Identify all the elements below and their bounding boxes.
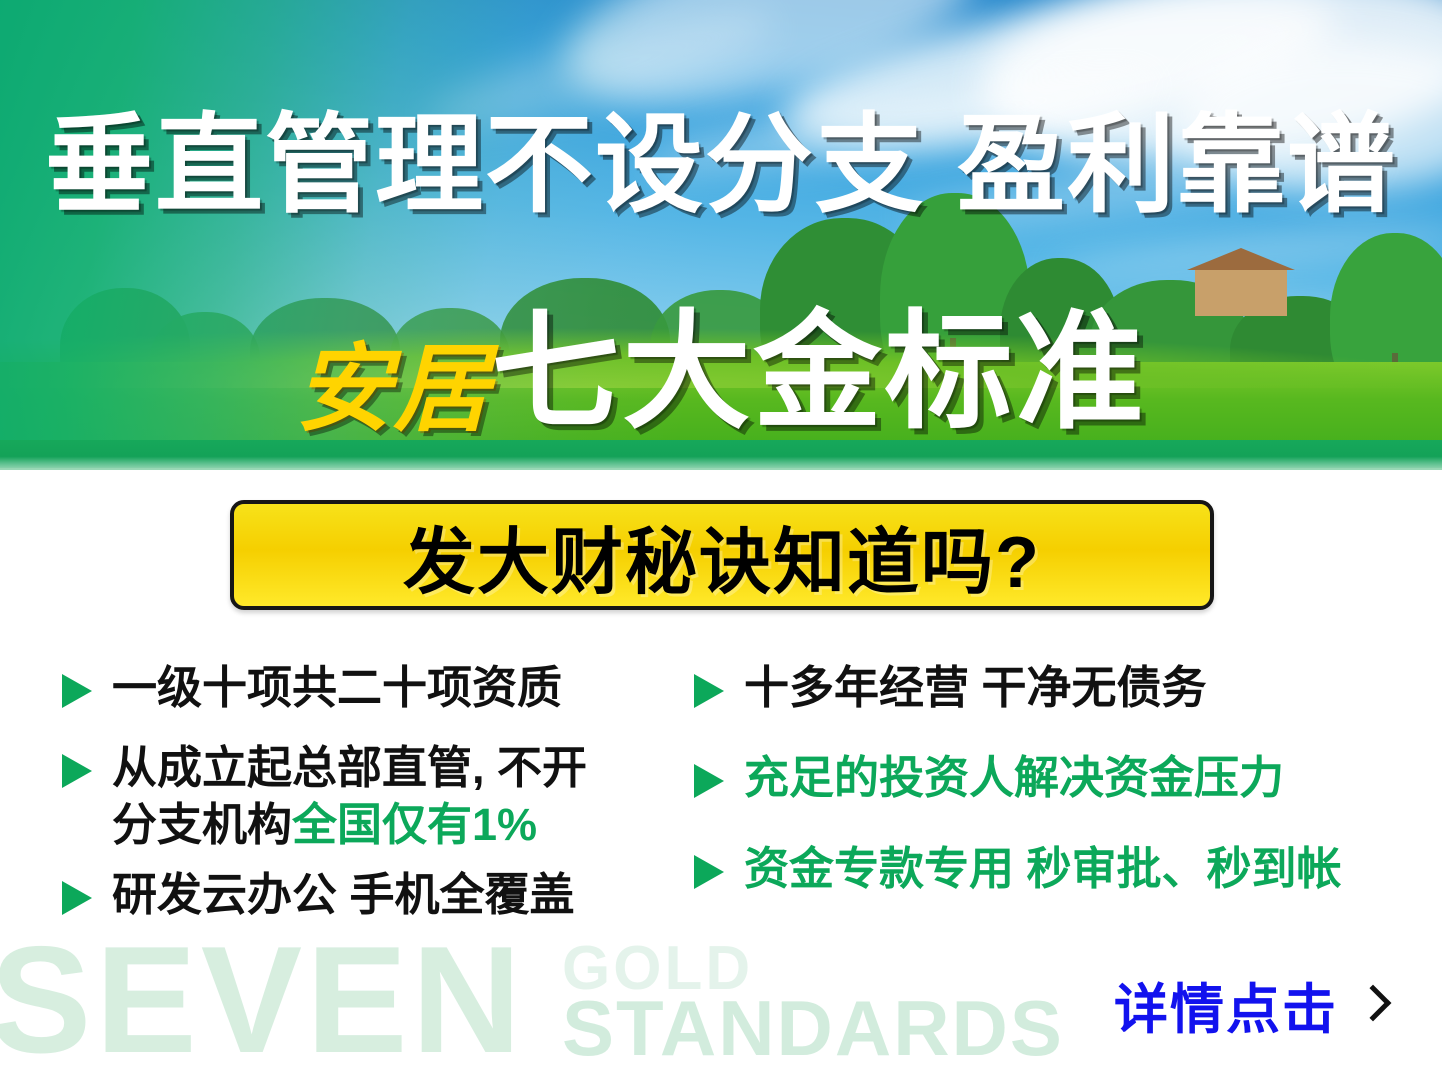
triangle-right-icon [694,674,724,708]
feature-item: 从成立起总部直管, 不开 分支机构全国仅有1% [62,740,702,853]
cta-link[interactable]: 详情点击 [1114,965,1386,1044]
feature-text-highlight: 全国仅有1% [292,799,537,850]
feature-text-line1: 从成立起总部直管, 不开 [112,742,587,793]
feature-column-right: 十多年经营 干净无债务 充足的投资人解决资金压力 资金专款专用 秒审批、秒到帐 [694,660,1414,931]
hero-subline-main: 七大金标准 [491,301,1146,444]
feature-item: 充足的投资人解决资金压力 [694,750,1414,806]
feature-item: 一级十项共二十项资质 [62,660,702,716]
feature-list: 一级十项共二十项资质 从成立起总部直管, 不开 分支机构全国仅有1% 研发云办公… [0,660,1442,1000]
hero-subline: 安居七大金标准 [0,268,1442,453]
triangle-right-icon [694,855,724,889]
feature-item: 资金专款专用 秒审批、秒到帐 [694,841,1414,897]
promo-poster: 垂直管理不设分支 盈利靠谱 安居七大金标准 发大财秘诀知道吗? SEVEN GO… [0,0,1442,1066]
feature-text: 充足的投资人解决资金压力 [744,750,1284,806]
triangle-right-icon [62,674,92,708]
hero-subline-highlight: 安居 [295,336,491,443]
feature-text-line2a: 分支机构 [112,799,292,850]
cta-label: 详情点击 [1114,965,1338,1044]
triangle-right-icon [694,764,724,798]
feature-text: 十多年经营 干净无债务 [744,660,1207,716]
feature-column-left: 一级十项共二十项资质 从成立起总部直管, 不开 分支机构全国仅有1% 研发云办公… [62,660,702,947]
feature-item: 十多年经营 干净无债务 [694,660,1414,716]
feature-text: 一级十项共二十项资质 [112,660,562,716]
hero-headline: 垂直管理不设分支 盈利靠谱 [0,108,1442,221]
triangle-right-icon [62,881,92,915]
hero-banner: 垂直管理不设分支 盈利靠谱 安居七大金标准 [0,0,1442,470]
headline-banner[interactable]: 发大财秘诀知道吗? [230,500,1214,610]
triangle-right-icon [62,754,92,788]
feature-item: 研发云办公 手机全覆盖 [62,867,702,923]
banner-label: 发大财秘诀知道吗? [403,503,1041,608]
feature-text: 从成立起总部直管, 不开 分支机构全国仅有1% [112,740,632,853]
feature-text: 资金专款专用 秒审批、秒到帐 [744,841,1342,897]
chevron-right-icon [1355,984,1392,1021]
feature-text: 研发云办公 手机全覆盖 [112,867,575,923]
